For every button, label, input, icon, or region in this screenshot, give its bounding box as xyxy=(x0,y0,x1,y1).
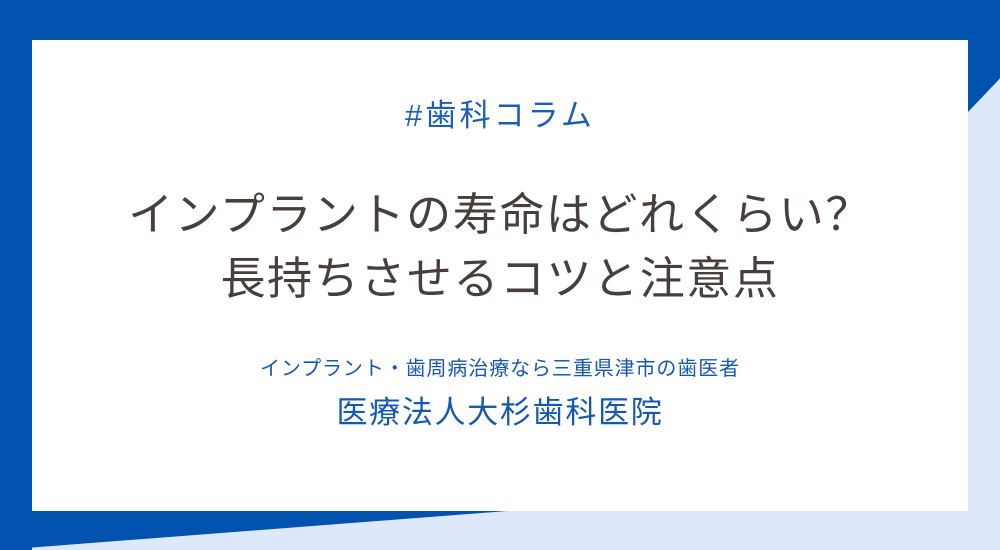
page-title: インプラントの寿命はどれくらい？ 長持ちさせるコツと注意点 xyxy=(128,183,872,311)
site-credit: インプラント・歯周病治療なら三重県津市の歯医者 医療法人大杉歯科医院 xyxy=(260,359,740,428)
blue-left-band xyxy=(0,0,32,550)
page-title-line-2: 長持ちさせるコツと注意点 xyxy=(128,247,872,311)
site-description: インプラント・歯周病治療なら三重県津市の歯医者 xyxy=(260,359,740,379)
category-tag: #歯科コラム xyxy=(405,100,595,131)
content-card: #歯科コラム インプラントの寿命はどれくらい？ 長持ちさせるコツと注意点 インプ… xyxy=(32,40,968,511)
eyecatch-banner: #歯科コラム インプラントの寿命はどれくらい？ 長持ちさせるコツと注意点 インプ… xyxy=(0,0,1000,550)
site-name: 医療法人大杉歯科医院 xyxy=(260,397,740,428)
page-title-line-1: インプラントの寿命はどれくらい？ xyxy=(128,183,872,247)
blue-top-band xyxy=(0,0,1000,40)
